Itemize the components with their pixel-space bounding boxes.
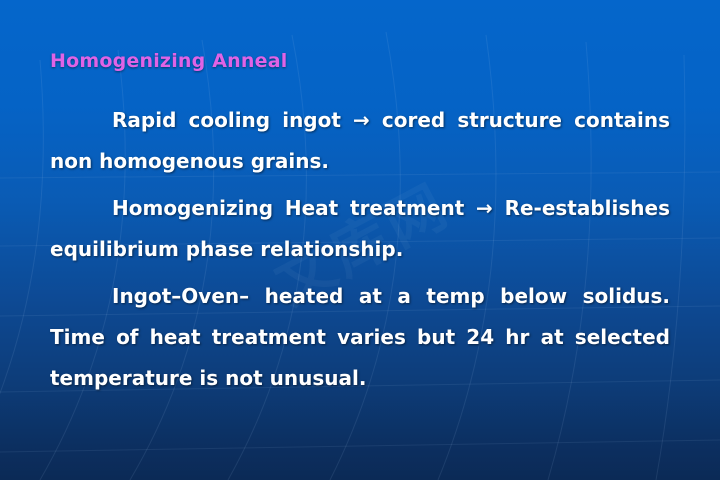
body-paragraph-3: Ingot–Oven– heated at a temp below solid… bbox=[50, 276, 670, 399]
body-paragraph-1: Rapid cooling ingot → cored structure co… bbox=[50, 100, 670, 182]
slide-body: Rapid cooling ingot → cored structure co… bbox=[50, 100, 670, 399]
slide-title: Homogenizing Anneal bbox=[50, 50, 287, 72]
slide-content: Homogenizing Anneal Rapid cooling ingot … bbox=[50, 0, 670, 480]
slide-canvas: 文库网 Homogenizing Anneal Rapid cooling in… bbox=[0, 0, 720, 480]
body-paragraph-2: Homogenizing Heat treatment → Re-establi… bbox=[50, 188, 670, 270]
